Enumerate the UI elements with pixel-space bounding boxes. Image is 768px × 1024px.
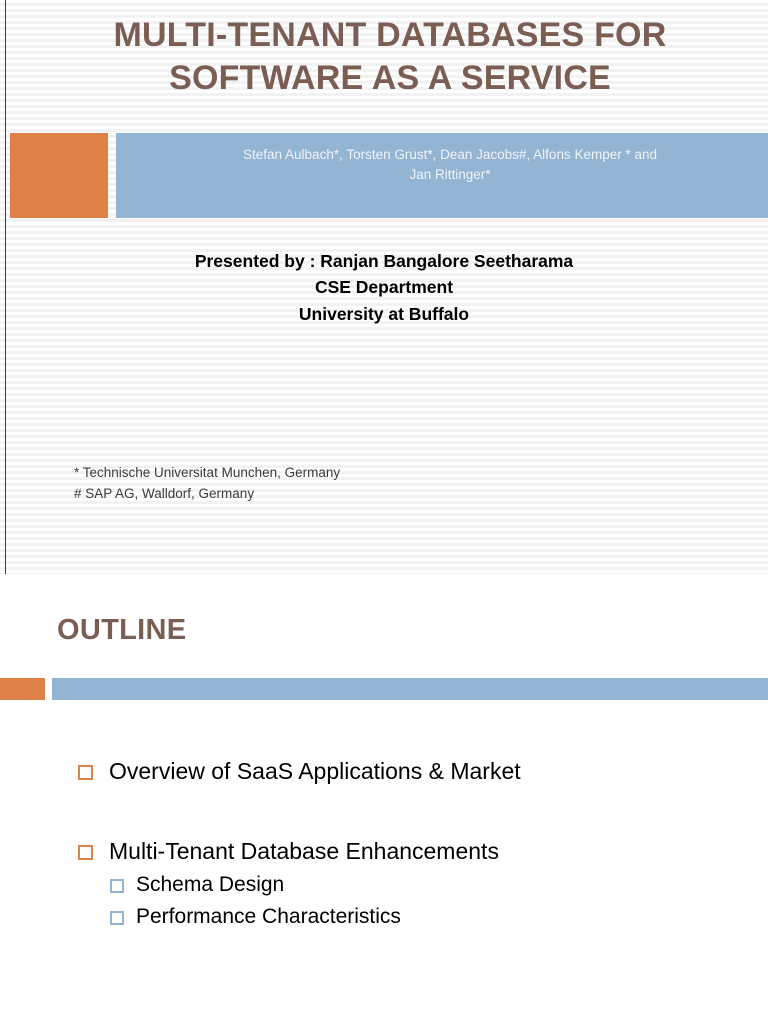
list-item: Multi-Tenant Database Enhancements bbox=[78, 837, 738, 866]
list-item-label: Schema Design bbox=[136, 872, 284, 898]
authors-line-1: Stefan Aulbach*, Torsten Grust*, Dean Ja… bbox=[150, 145, 750, 165]
list-item: Performance Characteristics bbox=[110, 904, 738, 930]
hollow-square-icon bbox=[110, 911, 124, 925]
orange-divider-block bbox=[0, 678, 45, 700]
page-title: MULTI-TENANT DATABASES FOR SOFTWARE AS A… bbox=[40, 14, 740, 99]
list-item-label: Performance Characteristics bbox=[136, 904, 401, 930]
affiliations-block: * Technische Universitat Munchen, German… bbox=[74, 463, 340, 505]
authors-line-2: Jan Rittinger* bbox=[150, 165, 750, 185]
list-item-label: Overview of SaaS Applications & Market bbox=[109, 757, 521, 786]
blue-divider-bar bbox=[52, 678, 768, 700]
page-title-line-2: SOFTWARE AS A SERVICE bbox=[40, 57, 740, 100]
university-line: University at Buffalo bbox=[0, 301, 768, 327]
hollow-square-icon bbox=[78, 845, 93, 860]
outline-slide: OUTLINE Overview of SaaS Applications & … bbox=[0, 574, 768, 1024]
department-line: CSE Department bbox=[0, 274, 768, 300]
outline-list: Overview of SaaS Applications & Market M… bbox=[78, 757, 738, 930]
list-item: Schema Design bbox=[110, 872, 738, 898]
presented-by-line: Presented by : Ranjan Bangalore Seethara… bbox=[0, 248, 768, 274]
orange-accent-block bbox=[10, 133, 108, 218]
hollow-square-icon bbox=[78, 765, 93, 780]
page-title-line-1: MULTI-TENANT DATABASES FOR bbox=[40, 14, 740, 57]
outline-heading: OUTLINE bbox=[57, 614, 186, 647]
authors-block: Stefan Aulbach*, Torsten Grust*, Dean Ja… bbox=[150, 145, 750, 184]
title-slide: MULTI-TENANT DATABASES FOR SOFTWARE AS A… bbox=[0, 0, 768, 574]
affiliation-line-2: # SAP AG, Walldorf, Germany bbox=[74, 484, 340, 505]
list-item-label: Multi-Tenant Database Enhancements bbox=[109, 837, 499, 866]
presenter-block: Presented by : Ranjan Bangalore Seethara… bbox=[0, 248, 768, 327]
list-item: Overview of SaaS Applications & Market bbox=[78, 757, 738, 786]
affiliation-line-1: * Technische Universitat Munchen, German… bbox=[74, 463, 340, 484]
hollow-square-icon bbox=[110, 879, 124, 893]
